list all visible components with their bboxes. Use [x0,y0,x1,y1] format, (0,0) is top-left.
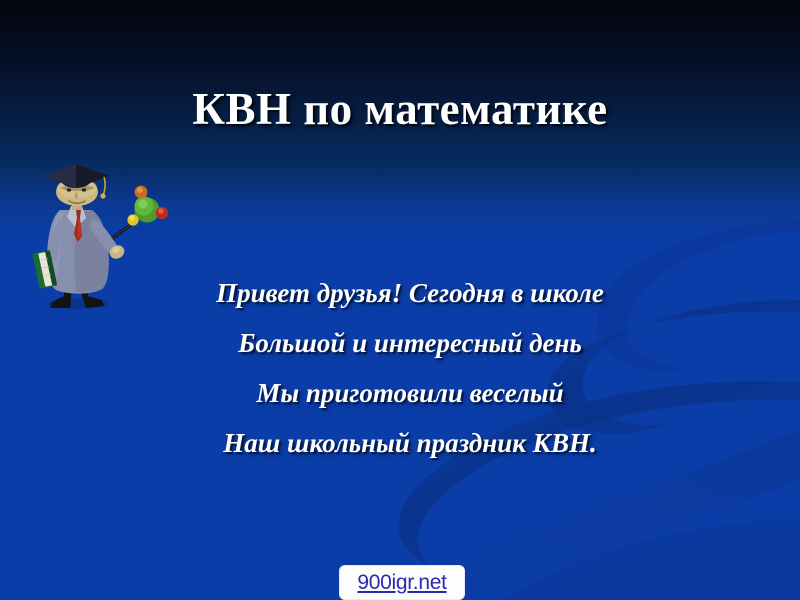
verse-line-3: Мы приготовили веселый [120,368,700,418]
slide-body-text: Привет друзья! Сегодня в школе Большой и… [120,268,700,468]
tassel [103,177,105,195]
watermark-link[interactable]: 900igr.net [357,572,446,593]
molecule-cluster [127,186,168,226]
verse-line-4: Наш школьный праздник КВН. [120,418,700,468]
watermark-badge[interactable]: 900igr.net [340,566,464,599]
verse-line-1: Привет друзья! Сегодня в школе [120,268,700,318]
slide-title: КВН по математике [0,83,800,135]
presentation-slide: КВН по математике Привет друзья! Сегодня… [0,0,800,600]
verse-line-2: Большой и интересный день [120,318,700,368]
